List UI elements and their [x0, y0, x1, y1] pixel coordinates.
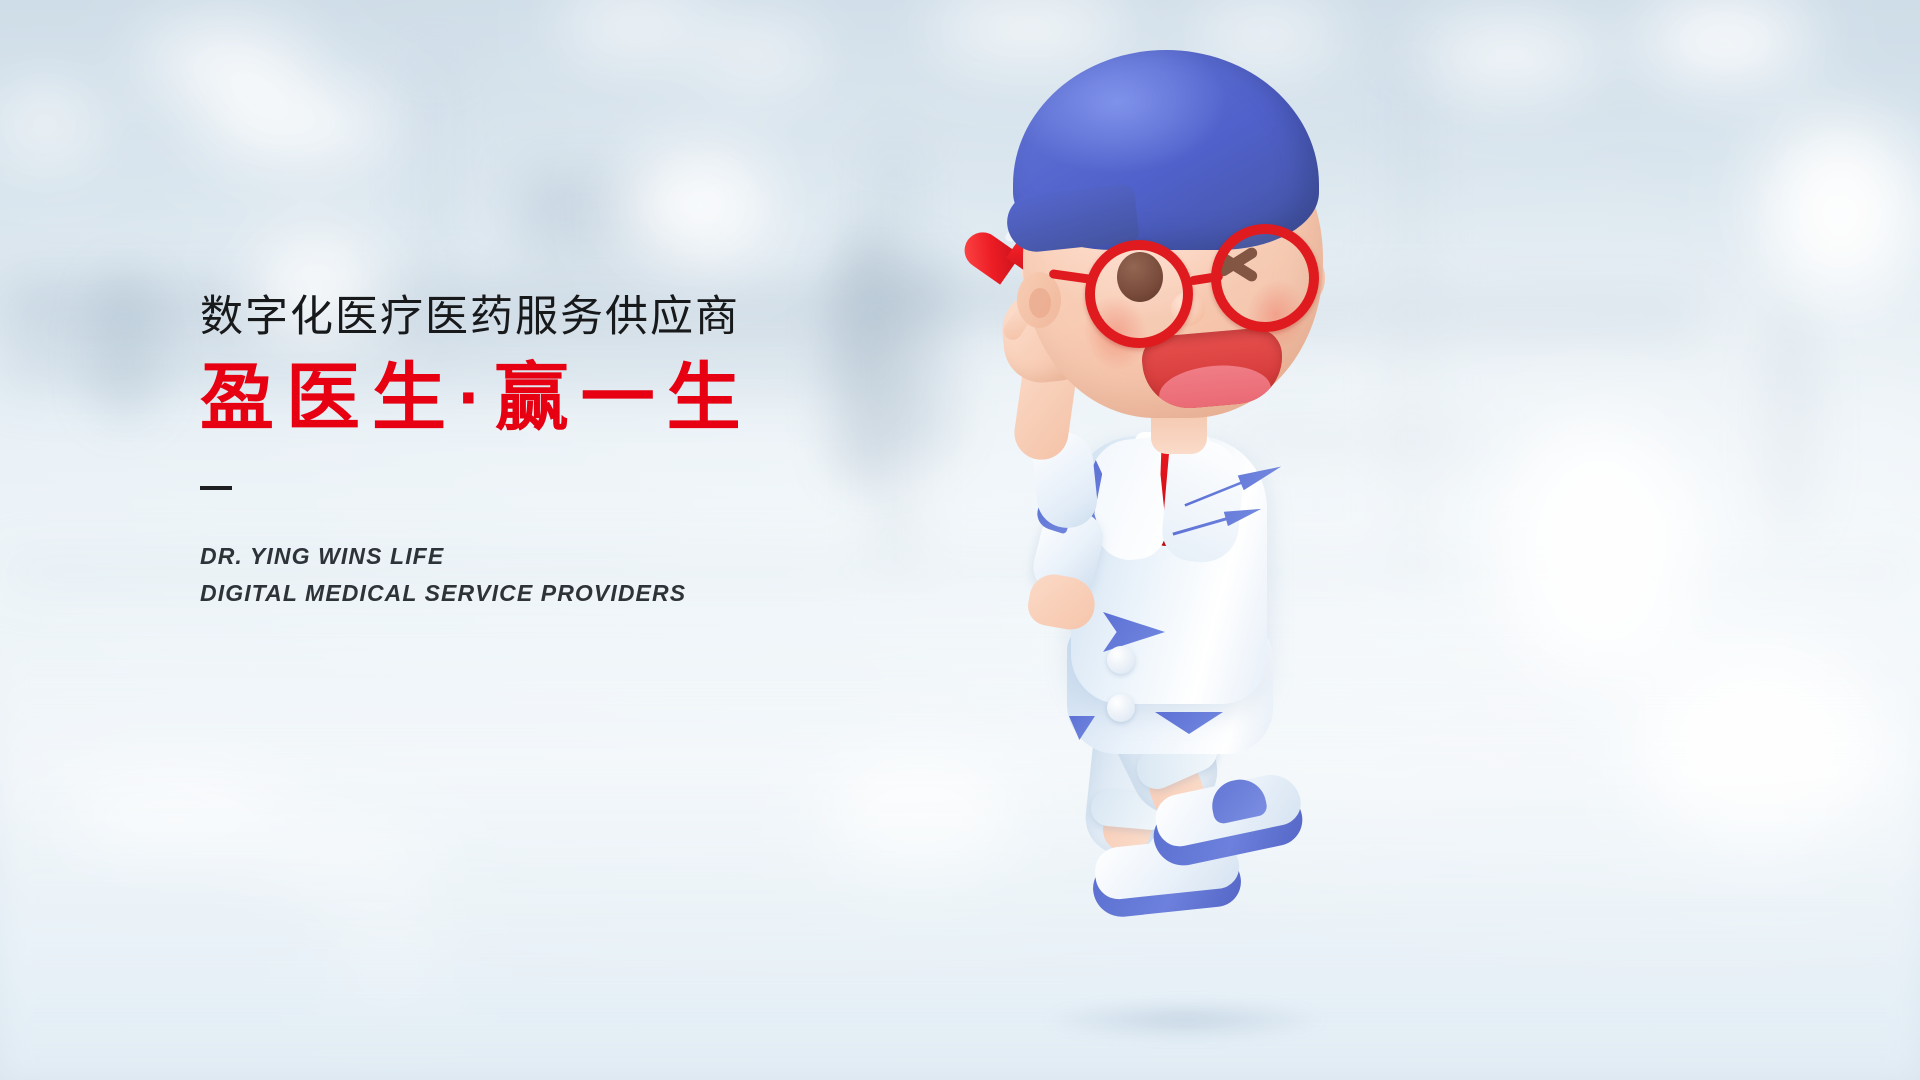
- english-subtitle-block: DR. YING WINS LIFE DIGITAL MEDICAL SERVI…: [200, 538, 960, 613]
- doctor-mascot-illustration: [975, 40, 1395, 1050]
- tongue: [1157, 361, 1273, 412]
- hero-copy-block: 数字化医疗医药服务供应商 盈医生·赢一生 DR. YING WINS LIFE …: [200, 292, 960, 612]
- english-line-1: DR. YING WINS LIFE: [200, 538, 960, 575]
- coat-button-upper: [1107, 646, 1135, 674]
- ear-left-inner: [1029, 288, 1051, 318]
- glasses-lens-left: [1085, 240, 1193, 348]
- english-line-2: DIGITAL MEDICAL SERVICE PROVIDERS: [200, 575, 960, 612]
- hero-banner: 数字化医疗医药服务供应商 盈医生·赢一生 DR. YING WINS LIFE …: [0, 0, 1920, 1080]
- divider-rule: [200, 486, 232, 490]
- main-headline: 盈医生·赢一生: [200, 357, 960, 440]
- coat-button-lower: [1107, 694, 1135, 722]
- sub-headline: 数字化医疗医药服务供应商: [200, 292, 960, 343]
- glasses-lens-right: [1211, 224, 1319, 332]
- character-ground-shadow: [1045, 1000, 1325, 1040]
- red-round-glasses: [1059, 218, 1331, 348]
